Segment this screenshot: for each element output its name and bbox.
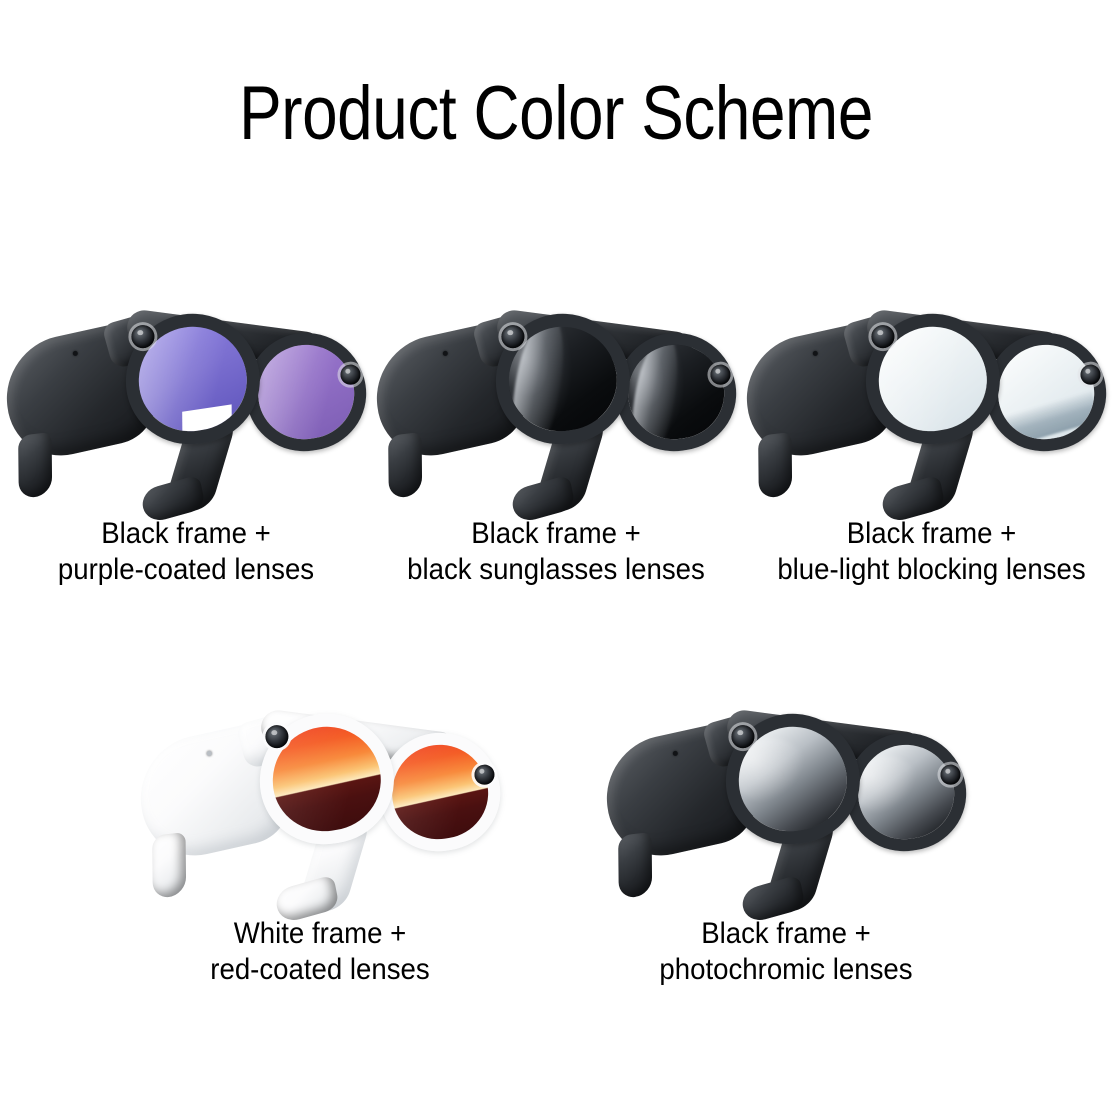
microphone-dot-icon xyxy=(443,351,448,356)
smart-glasses-illustration xyxy=(367,287,744,507)
caption-line-1: Black frame + xyxy=(101,517,270,550)
lens-sheen xyxy=(251,338,343,445)
lens-right xyxy=(251,338,360,445)
caption-line-2: purple-coated lenses xyxy=(15,552,357,588)
microphone-dot-icon xyxy=(73,351,78,356)
product-card-black-sunglasses[interactable]: Black frame + black sunglasses lenses xyxy=(370,292,742,588)
lens-right xyxy=(851,738,960,845)
product-image-white-red xyxy=(134,692,506,902)
microphone-dot-icon xyxy=(813,351,818,356)
product-caption: Black frame + blue-light blocking lenses xyxy=(760,516,1102,588)
product-card-black-bluelight[interactable]: Black frame + blue-light blocking lenses xyxy=(740,292,1112,588)
product-image-black-sunglasses xyxy=(370,292,742,502)
product-card-black-photochromic[interactable]: Black frame + photochromic lenses xyxy=(600,692,972,988)
microphone-dot-icon xyxy=(207,751,212,756)
smart-glasses-illustration xyxy=(0,287,375,507)
lens-reflection xyxy=(999,390,1100,446)
caption-line-1: Black frame + xyxy=(847,517,1016,550)
product-image-black-bluelight xyxy=(740,292,1112,502)
product-caption: Black frame + purple-coated lenses xyxy=(15,516,357,588)
smart-glasses-illustration xyxy=(737,287,1112,507)
smart-glasses-illustration xyxy=(597,687,974,907)
caption-line-1: White frame + xyxy=(234,917,407,950)
product-image-black-purple xyxy=(0,292,372,502)
product-card-black-purple[interactable]: Black frame + purple-coated lenses xyxy=(0,292,372,588)
product-color-scheme-page: Product Color Scheme xyxy=(0,0,1112,1113)
caption-line-1: Black frame + xyxy=(701,917,870,950)
product-image-black-photochromic xyxy=(600,692,972,902)
lens-notch xyxy=(182,405,231,439)
lens-right xyxy=(991,338,1100,445)
page-title: Product Color Scheme xyxy=(89,72,1023,156)
product-caption: Black frame + photochromic lenses xyxy=(615,916,957,988)
lens-reflection xyxy=(851,751,921,817)
microphone-dot-icon xyxy=(673,751,678,756)
product-caption: Black frame + black sunglasses lenses xyxy=(385,516,727,588)
caption-line-2: photochromic lenses xyxy=(615,952,957,988)
caption-line-2: black sunglasses lenses xyxy=(385,552,727,588)
caption-line-1: Black frame + xyxy=(471,517,640,550)
lens-reflection xyxy=(624,338,685,445)
product-caption: White frame + red-coated lenses xyxy=(149,916,491,988)
caption-line-2: blue-light blocking lenses xyxy=(760,552,1102,588)
lens-sheen xyxy=(385,738,477,845)
lens-right xyxy=(621,338,730,445)
lens-right xyxy=(385,738,494,845)
caption-line-2: red-coated lenses xyxy=(149,952,491,988)
product-card-white-red[interactable]: White frame + red-coated lenses xyxy=(134,692,506,988)
smart-glasses-illustration xyxy=(131,687,508,907)
